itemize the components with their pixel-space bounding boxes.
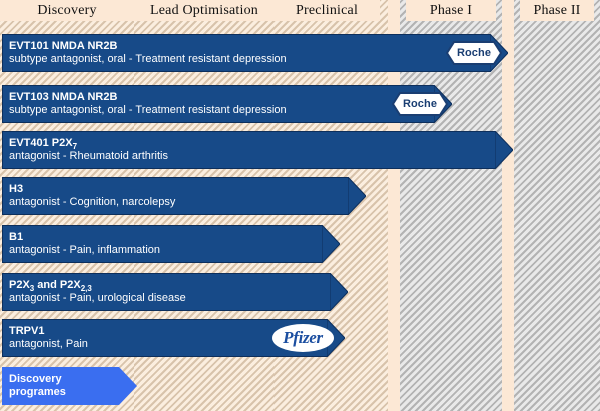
stage-header-preclinical: Preclinical (274, 0, 380, 21)
bar-evt101[interactable]: EVT101 NMDA NR2B subtype antagonist, ora… (2, 34, 508, 72)
bar-body (2, 131, 495, 169)
pipeline-row: TRPV1 antagonist, Pain Pfizer (0, 319, 600, 357)
bar-arrow-head (119, 367, 137, 405)
bar-arrow-head (330, 273, 348, 311)
bar-body (2, 273, 330, 311)
stage-header-lead-optimisation: Lead Optimisation (134, 0, 274, 21)
pipeline-chart: Discovery Lead Optimisation Preclinical … (0, 0, 600, 411)
bar-discovery-programes[interactable]: Discovery programes (2, 367, 137, 405)
bar-p2x3[interactable]: P2X3 and P2X2,3 antagonist - Pain, urolo… (2, 273, 348, 311)
stage-header-phase-ii: Phase II (520, 0, 594, 21)
bar-body (2, 85, 434, 123)
bar-body (2, 34, 490, 72)
pfizer-logo-text: Pfizer (271, 323, 335, 353)
bar-arrow-head (495, 131, 513, 169)
bar-arrow-head (322, 225, 340, 263)
pipeline-row: EVT101 NMDA NR2B subtype antagonist, ora… (0, 34, 600, 72)
pipeline-row: H3 antagonist - Cognition, narcolepsy (0, 177, 600, 215)
bar-h3[interactable]: H3 antagonist - Cognition, narcolepsy (2, 177, 366, 215)
bar-evt103[interactable]: EVT103 NMDA NR2B subtype antagonist, ora… (2, 85, 452, 123)
bar-body (2, 225, 322, 263)
bar-body (2, 367, 119, 405)
pipeline-row: B1 antagonist - Pain, inflammation (0, 225, 600, 263)
pfizer-logo: Pfizer (271, 323, 335, 353)
roche-logo-text: Roche (446, 41, 502, 65)
stage-header-phase-i: Phase I (406, 0, 496, 21)
roche-logo: Roche (392, 92, 448, 116)
bar-arrow-head (348, 177, 366, 215)
pipeline-row: P2X3 and P2X2,3 antagonist - Pain, urolo… (0, 273, 600, 311)
bar-b1[interactable]: B1 antagonist - Pain, inflammation (2, 225, 340, 263)
pipeline-row: EVT401 P2X7 antagonist - Rheumatoid arth… (0, 131, 600, 169)
stage-header: Discovery Lead Optimisation Preclinical … (0, 0, 600, 21)
stage-header-discovery: Discovery (0, 0, 134, 21)
bar-evt401[interactable]: EVT401 P2X7 antagonist - Rheumatoid arth… (2, 131, 513, 169)
pipeline-row: Discovery programes (0, 367, 600, 405)
roche-logo-text: Roche (392, 92, 448, 116)
pipeline-row: EVT103 NMDA NR2B subtype antagonist, ora… (0, 85, 600, 123)
roche-logo: Roche (446, 41, 502, 65)
bar-body (2, 177, 348, 215)
